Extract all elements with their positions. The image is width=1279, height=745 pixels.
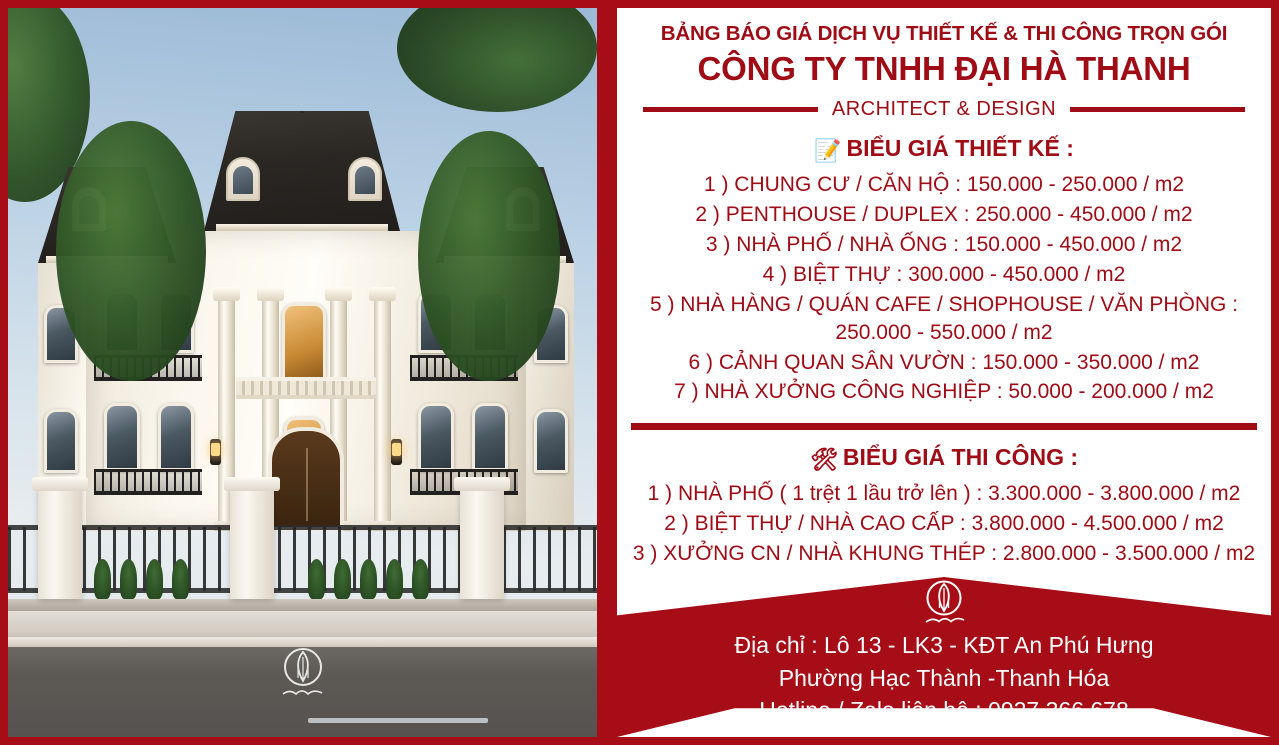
architect-design-divider: ARCHITECT & DESIGN xyxy=(643,98,1245,121)
villa-building xyxy=(86,139,526,531)
construction-price-list: 1 ) NHÀ PHỐ ( 1 trệt 1 lầu trở lên ) : 3… xyxy=(617,479,1271,569)
construction-price-item: 1 ) NHÀ PHỐ ( 1 trệt 1 lầu trở lên ) : 3… xyxy=(617,479,1271,509)
design-section-title: 📝BIỂU GIÁ THIẾT KẾ : xyxy=(617,135,1271,164)
design-price-item: 1 ) CHUNG CƯ / CĂN HỘ : 150.000 - 250.00… xyxy=(617,170,1271,200)
design-price-item: 2 ) PENTHOUSE / DUPLEX : 250.000 - 450.0… xyxy=(617,200,1271,230)
construction-price-item: 2 ) BIỆT THỰ / NHÀ CAO CẤP : 3.800.000 -… xyxy=(617,509,1271,539)
balcony-left-lower xyxy=(94,469,202,495)
design-price-item: 7 ) NHÀ XƯỞNG CÔNG NGHIỆP : 50.000 - 200… xyxy=(617,377,1271,407)
design-price-list: 1 ) CHUNG CƯ / CĂN HỘ : 150.000 - 250.00… xyxy=(617,170,1271,407)
window-left-2f-b xyxy=(158,403,194,471)
design-section-title-text: BIỂU GIÁ THIẾT KẾ : xyxy=(846,135,1073,161)
vertical-divider-bar xyxy=(597,8,617,737)
divider-line-right xyxy=(1070,107,1245,112)
window-lit-center-upper xyxy=(282,303,326,381)
window-left-2f xyxy=(104,403,140,471)
company-name-title: CÔNG TY TNHH ĐẠI HÀ THANH xyxy=(625,50,1263,88)
hedge-6 xyxy=(334,559,351,599)
construction-section-title: 🛠BIỂU GIÁ THI CÔNG : xyxy=(617,444,1271,473)
design-price-item: 3 ) NHÀ PHỐ / NHÀ ỐNG : 150.000 - 450.00… xyxy=(617,230,1271,260)
fence-pillar-3 xyxy=(460,487,504,599)
tree-right xyxy=(418,131,560,381)
window-wing-left-lower xyxy=(44,409,78,473)
road-marking xyxy=(308,718,488,723)
poster-subtitle-line: BẢNG BÁO GIÁ DỊCH VỤ THIẾT KẾ & THI CÔNG… xyxy=(625,22,1263,46)
window-wing-right-lower xyxy=(534,409,568,473)
company-emblem-logo xyxy=(914,578,974,630)
construction-price-item: 3 ) XƯỞNG CN / NHÀ KHUNG THÉP : 2.800.00… xyxy=(617,539,1271,569)
design-price-item: 5 ) NHÀ HÀNG / QUÁN CAFE / SHOPHOUSE / V… xyxy=(617,290,1271,348)
window-right-2f-b xyxy=(418,403,454,471)
villa-photo xyxy=(8,8,597,737)
dormer-window-center-right xyxy=(348,157,382,201)
design-price-item: 6 ) CẢNH QUAN SÂN VƯỜN : 150.000 - 350.0… xyxy=(617,348,1271,378)
window-right-2f xyxy=(472,403,508,471)
price-list-poster: BẢNG BÁO GIÁ DỊCH VỤ THIẾT KẾ & THI CÔNG… xyxy=(0,0,1279,745)
column-4 xyxy=(374,299,391,531)
footer-address-line-2: Phường Hạc Thành -Thanh Hóa xyxy=(617,662,1271,695)
design-price-item: 4 ) BIỆT THỰ : 300.000 - 450.000 / m2 xyxy=(617,260,1271,290)
hedge-2 xyxy=(120,559,137,599)
pricing-content-panel: BẢNG BÁO GIÁ DỊCH VỤ THIẾT KẾ & THI CÔNG… xyxy=(617,8,1271,737)
hedge-1 xyxy=(94,559,111,599)
hammer-and-wrench-icon: 🛠 xyxy=(810,447,838,472)
wall-lamp-left xyxy=(210,439,221,465)
footer-address-line-1: Địa chỉ : Lô 13 - LK3 - KĐT An Phú Hưng xyxy=(617,629,1271,662)
construction-section-title-text: BIỂU GIÁ THI CÔNG : xyxy=(843,444,1078,470)
wall-lamp-right xyxy=(391,439,402,465)
dormer-window-center-left xyxy=(226,157,260,201)
hedge-9 xyxy=(412,559,429,599)
fence-pillar-2 xyxy=(230,487,274,599)
roof-cornice-center xyxy=(216,224,389,231)
fence-pillar-1 xyxy=(38,487,82,599)
balustrade-center xyxy=(236,377,376,399)
divider-line-left xyxy=(643,107,818,112)
hedge-5 xyxy=(308,559,325,599)
hedge-3 xyxy=(146,559,163,599)
tree-left xyxy=(56,121,206,381)
hedge-4 xyxy=(172,559,189,599)
curb xyxy=(8,599,597,611)
section-separator-rule xyxy=(631,423,1257,430)
photo-watermark-logo xyxy=(273,645,333,703)
contact-details: Địa chỉ : Lô 13 - LK3 - KĐT An Phú Hưng … xyxy=(617,629,1271,727)
hedge-7 xyxy=(360,559,377,599)
contact-footer-banner: Địa chỉ : Lô 13 - LK3 - KĐT An Phú Hưng … xyxy=(617,577,1271,737)
hedge-8 xyxy=(386,559,403,599)
footer-hotline-line: Hotline / Zalo liên hệ : 0927.366.678 xyxy=(617,694,1271,727)
memo-icon: 📝 xyxy=(814,138,841,163)
architect-design-label: ARCHITECT & DESIGN xyxy=(832,98,1056,121)
